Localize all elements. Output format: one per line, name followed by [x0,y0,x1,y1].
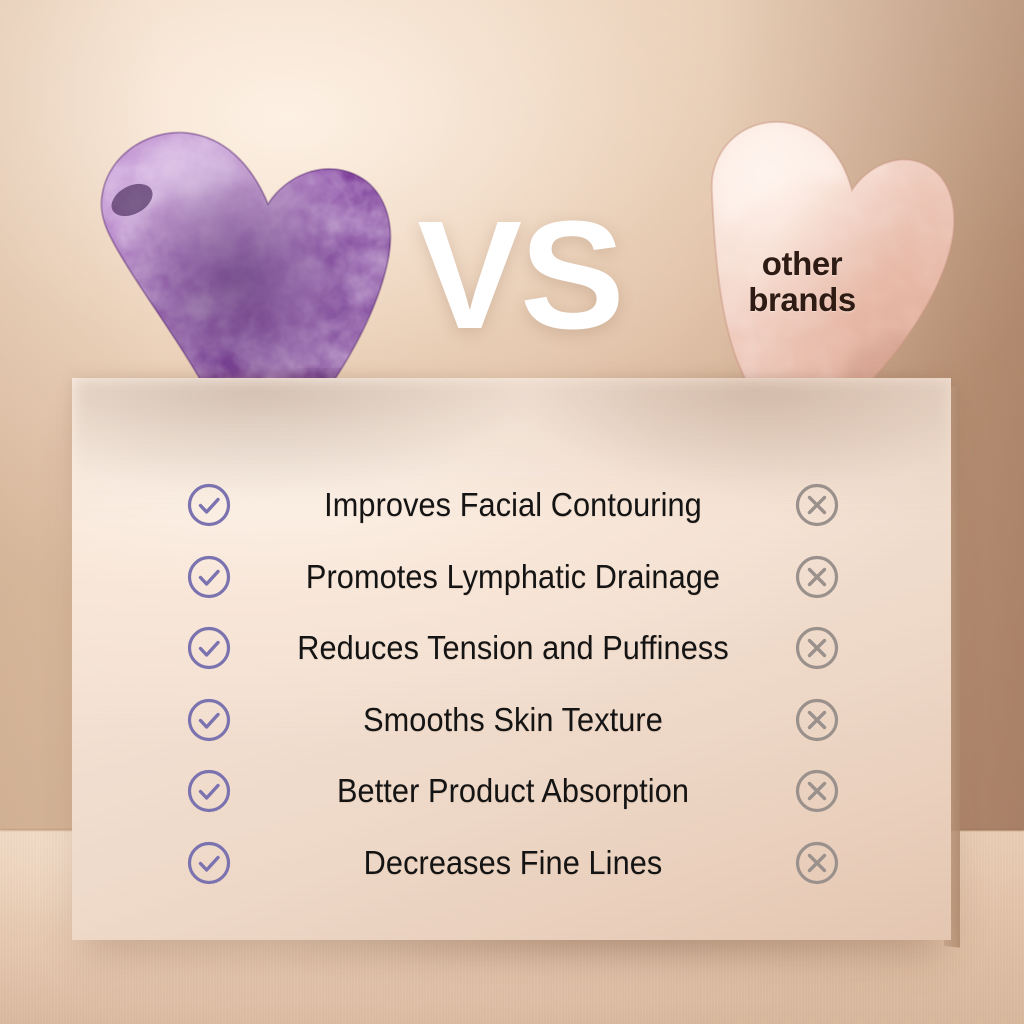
feature-row: Better Product Absorption [72,765,951,817]
check-circle-icon [186,697,232,743]
feature-row: Improves Facial Contouring [72,479,951,531]
feature-row: Promotes Lymphatic Drainage [72,551,951,603]
feature-comparison-list: Improves Facial ContouringPromotes Lymph… [72,378,951,940]
check-circle-icon [186,554,232,600]
check-circle-icon [186,625,232,671]
x-circle-icon [794,554,840,600]
other-brands-line-2: brands [722,282,882,318]
x-circle-icon [794,482,840,528]
feature-row: Decreases Fine Lines [72,837,951,889]
x-circle-icon [794,697,840,743]
feature-label: Reduces Tension and Puffiness [252,629,775,667]
check-circle-icon [186,482,232,528]
feature-label: Promotes Lymphatic Drainage [252,558,775,596]
feature-label: Smooths Skin Texture [252,701,775,739]
feature-row: Reduces Tension and Puffiness [72,622,951,674]
feature-row: Smooths Skin Texture [72,694,951,746]
x-circle-icon [794,768,840,814]
versus-label: VS [403,198,638,352]
feature-label: Improves Facial Contouring [252,486,775,524]
x-circle-icon [794,840,840,886]
comparison-card: Improves Facial ContouringPromotes Lymph… [72,378,951,940]
other-brands-label: other brands [722,246,882,317]
check-circle-icon [186,768,232,814]
other-brands-line-1: other [722,246,882,282]
product-comparison-graphic: VS [0,0,1024,1024]
feature-label: Better Product Absorption [252,772,775,810]
x-circle-icon [794,625,840,671]
check-circle-icon [186,840,232,886]
feature-label: Decreases Fine Lines [252,844,775,882]
